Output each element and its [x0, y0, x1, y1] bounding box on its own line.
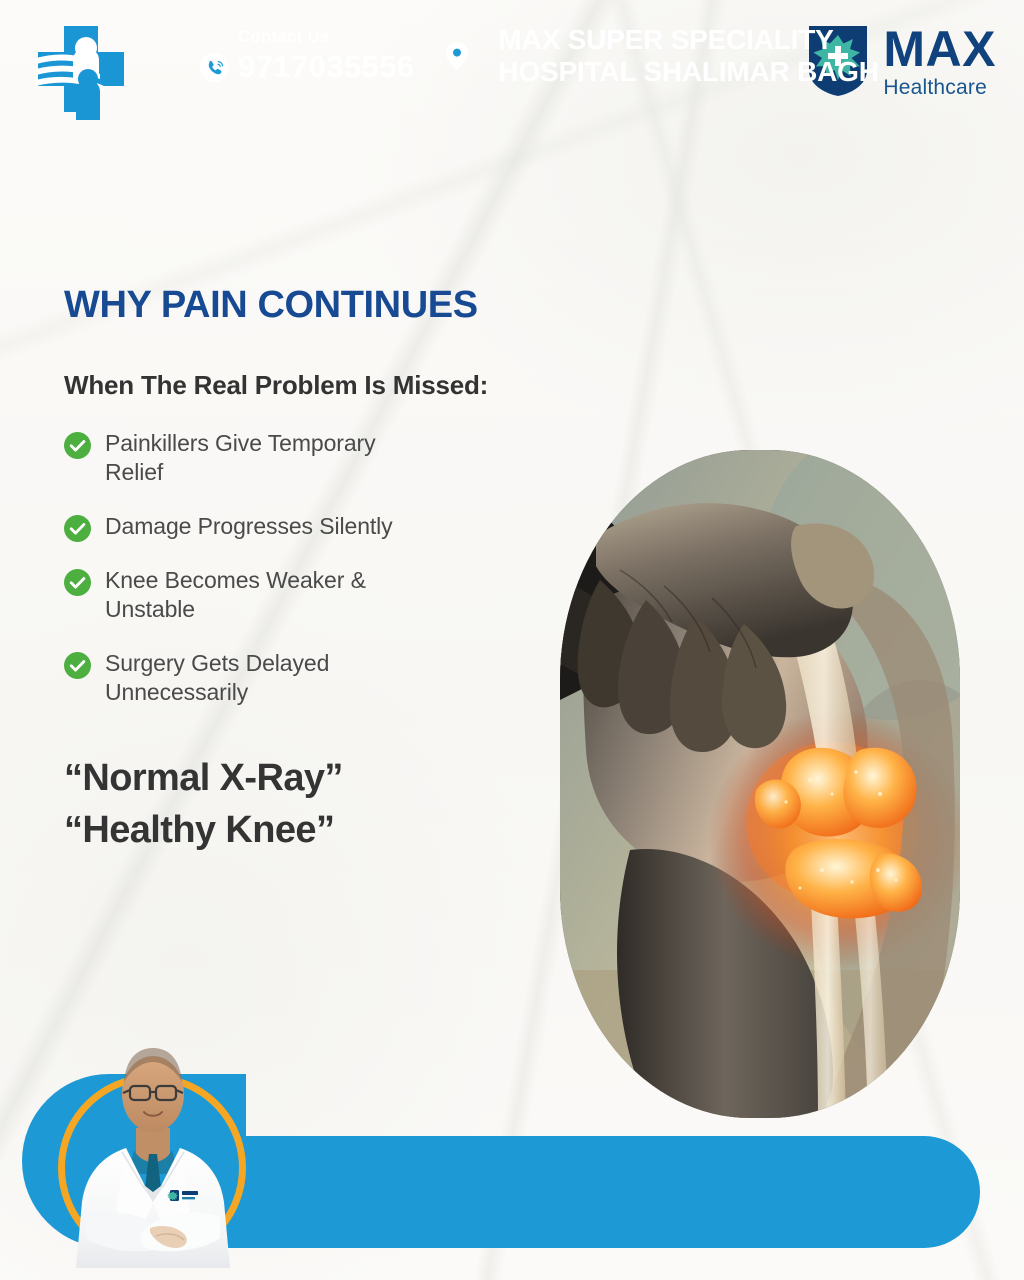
max-healthcare-subtext: Healthcare — [883, 77, 996, 98]
doctor-portrait — [56, 1024, 250, 1268]
list-item-label: Painkillers Give Temporary Relief — [105, 429, 435, 488]
subheading: When The Real Problem Is Missed: — [64, 370, 584, 401]
contact-info-group: Contact Us 9717035556 MAX SUPER SPECIALI… — [200, 0, 879, 112]
quote-block: “Normal X-Ray” “Healthy Knee” — [64, 752, 584, 857]
contact-phone-group[interactable]: Contact Us 9717035556 — [200, 27, 414, 85]
benefit-list: Painkillers Give Temporary Relief Damage… — [64, 429, 584, 708]
hospital-cross-family-logo — [26, 22, 148, 124]
list-item: Surgery Gets Delayed Unnecessarily — [64, 649, 584, 708]
main-content: WHY PAIN CONTINUES When The Real Problem… — [64, 286, 584, 856]
check-circle-icon — [64, 569, 91, 596]
poster-canvas: MAX Healthcare WHY PAIN CONTINUES When T… — [0, 0, 1024, 1280]
phone-call-icon[interactable] — [200, 53, 229, 82]
check-circle-icon — [64, 652, 91, 679]
hospital-name-line1: MAX SUPER SPECIALITY — [498, 24, 878, 56]
phone-number[interactable]: 9717035556 — [238, 49, 414, 85]
doctor-portrait-illustration — [56, 1024, 250, 1268]
max-word-text: MAX — [883, 24, 996, 74]
list-item: Knee Becomes Weaker & Unstable — [64, 566, 584, 625]
list-item-label: Knee Becomes Weaker & Unstable — [105, 566, 435, 625]
page-title: WHY PAIN CONTINUES — [64, 286, 584, 326]
list-item: Painkillers Give Temporary Relief — [64, 429, 584, 488]
list-item-label: Surgery Gets Delayed Unnecessarily — [105, 649, 435, 708]
quote-line-normal-xray: “Normal X-Ray” — [64, 752, 584, 804]
knee-pain-illustration — [560, 450, 960, 1118]
hospital-name: MAX SUPER SPECIALITY HOSPITAL SHALIMAR B… — [498, 24, 878, 89]
max-wordmark: MAX Healthcare — [883, 24, 996, 98]
list-item-label: Damage Progresses Silently — [105, 512, 393, 541]
hospital-name-line2: HOSPITAL SHALIMAR BAGH — [498, 56, 878, 88]
location-pin-icon[interactable] — [444, 41, 470, 71]
cross-family-icon — [26, 22, 148, 124]
phone-row[interactable]: 9717035556 — [200, 49, 414, 85]
contact-us-label: Contact Us — [238, 27, 414, 47]
quote-line-healthy-knee: “Healthy Knee” — [64, 804, 584, 856]
check-circle-icon — [64, 515, 91, 542]
knee-pain-photo — [560, 450, 960, 1118]
list-item: Damage Progresses Silently — [64, 512, 584, 542]
check-circle-icon — [64, 432, 91, 459]
